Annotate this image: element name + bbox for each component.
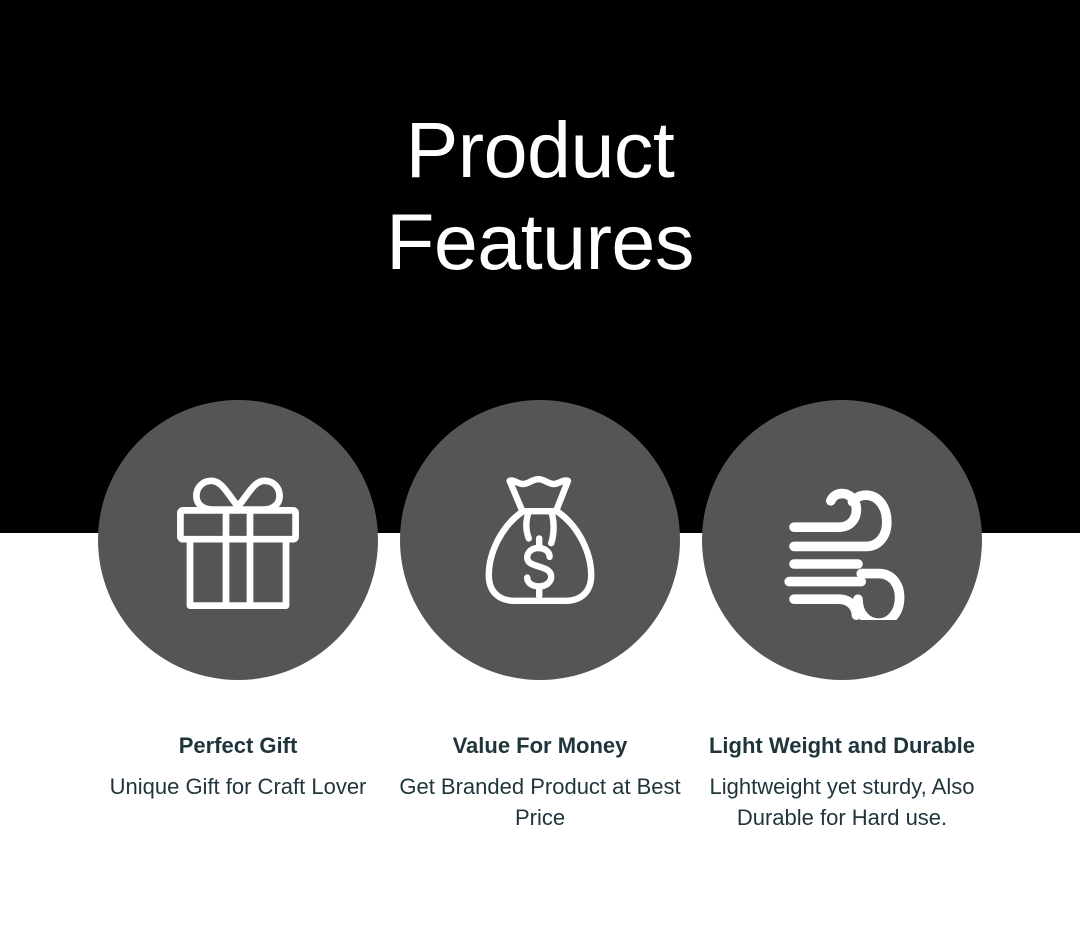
feature-item-value-for-money: Value For Money Get Branded Product at B… [389, 400, 691, 833]
page-title: Product Features [0, 104, 1080, 288]
feature-title: Value For Money [390, 730, 690, 761]
feature-description: Get Branded Product at Best Price [390, 771, 690, 833]
features-row: Perfect Gift Unique Gift for Craft Lover [0, 400, 1080, 833]
product-features-poster: Product Features [0, 0, 1080, 949]
money-bag-dollar-icon [460, 460, 620, 620]
feature-description: Unique Gift for Craft Lover [88, 771, 388, 802]
feature-description: Lightweight yet sturdy, Also Durable for… [692, 771, 992, 833]
feature-title: Light Weight and Durable [692, 730, 992, 761]
feature-icon-circle [400, 400, 680, 680]
gift-box-icon [158, 460, 318, 620]
feature-text-block: Perfect Gift Unique Gift for Craft Lover [88, 730, 388, 802]
feature-icon-circle [702, 400, 982, 680]
feature-title: Perfect Gift [88, 730, 388, 761]
feature-icon-circle [98, 400, 378, 680]
feature-text-block: Value For Money Get Branded Product at B… [390, 730, 690, 833]
feature-item-perfect-gift: Perfect Gift Unique Gift for Craft Lover [87, 400, 389, 802]
feature-item-light-weight-durable: Light Weight and Durable Lightweight yet… [691, 400, 993, 833]
feature-text-block: Light Weight and Durable Lightweight yet… [692, 730, 992, 833]
wind-air-icon [762, 460, 922, 620]
